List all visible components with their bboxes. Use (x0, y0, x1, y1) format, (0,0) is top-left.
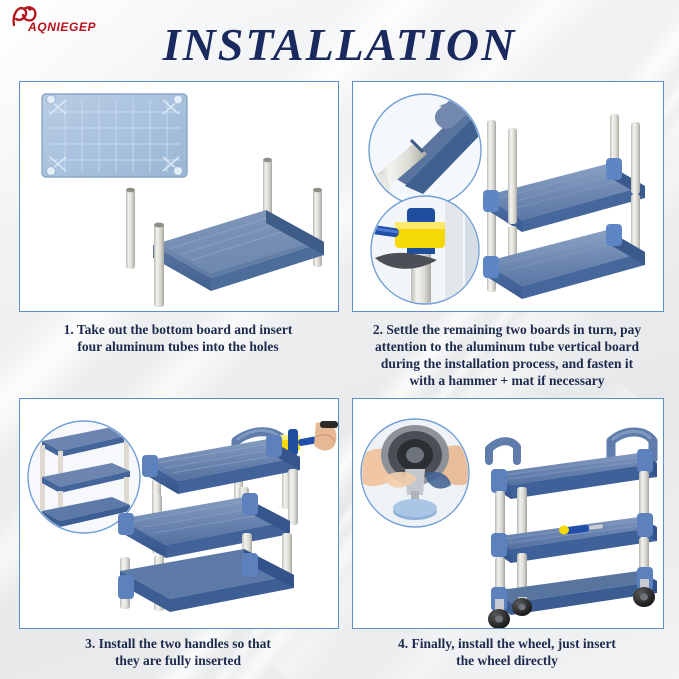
caption-line: four aluminum tubes into the holes (19, 338, 337, 355)
shelf-board (491, 513, 657, 563)
caption-line: attention to the aluminum tube vertical … (348, 338, 666, 355)
step-1-illustration (20, 82, 338, 311)
step-3-caption: 3. Install the two handles so that they … (19, 635, 337, 669)
step-3-image-panel (19, 398, 339, 629)
hammer-striking-tube-closeup-inset (360, 196, 481, 306)
step-3-illustration (20, 399, 338, 628)
caption-line: 3. Install the two handles so that (19, 635, 337, 652)
finished-cart (488, 431, 657, 628)
caption-line: they are fully inserted (19, 652, 337, 669)
page-title: INSTALLATION (0, 18, 679, 71)
shelf-board (483, 224, 645, 299)
step-4-caption: 4. Finally, install the wheel, just inse… (348, 635, 666, 669)
bottom-board (153, 210, 324, 291)
aluminum-tube (508, 128, 517, 224)
tube-socket-closeup-inset (364, 89, 481, 206)
tube-cap (407, 208, 435, 224)
aluminum-tube (631, 194, 640, 252)
caption-line: 4. Finally, install the wheel, just inse… (348, 635, 666, 652)
aluminum-tube (126, 188, 164, 307)
shelf-board (118, 493, 290, 558)
shelf-board (118, 549, 294, 612)
handle (489, 441, 517, 461)
caption-line: 2. Settle the remaining two boards in tu… (348, 321, 666, 338)
hand (314, 421, 338, 451)
step-2-illustration (353, 82, 663, 311)
caption-line: with a hammer + mat if necessary (348, 372, 666, 389)
step-2-caption: 2. Settle the remaining two boards in tu… (348, 321, 666, 389)
caster-insertion-closeup-inset (361, 419, 471, 529)
caption-line: during the installation process, and fas… (348, 355, 666, 372)
step-4-image-panel (352, 398, 664, 629)
bottom-board-underside (42, 94, 187, 177)
caption-line: the wheel directly (348, 652, 666, 669)
step-2-image-panel (352, 81, 664, 312)
aluminum-tube (288, 469, 298, 525)
caption-line: 1. Take out the bottom board and insert (19, 321, 337, 338)
step-4-illustration (353, 399, 663, 628)
aluminum-tube (487, 120, 496, 240)
shelf-board (483, 158, 645, 232)
three-tier-cart (118, 421, 338, 612)
aluminum-tube (631, 122, 640, 194)
infographic-page: AQNIEGEP INSTALLATION (0, 0, 679, 679)
aluminum-tube (517, 487, 527, 539)
shelf-board (142, 435, 300, 494)
step-1-image-panel (19, 81, 339, 312)
step-1-caption: 1. Take out the bottom board and insert … (19, 321, 337, 355)
two-tier-assembly (483, 114, 645, 299)
